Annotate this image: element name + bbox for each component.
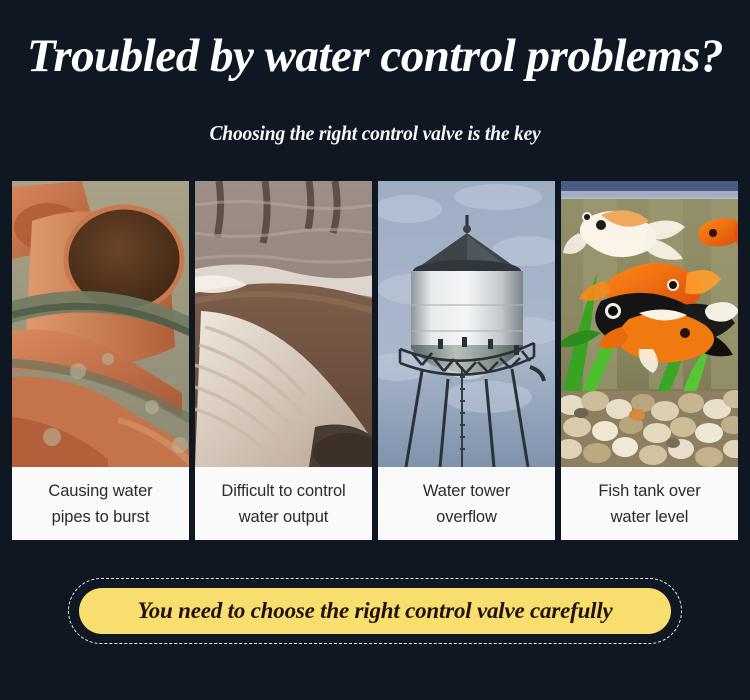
caption-line-2: water output: [239, 504, 329, 530]
caption-line-1: Causing water: [48, 478, 152, 504]
card-caption: Causing water pipes to burst: [12, 467, 189, 540]
promo-banner: Troubled by water control problems? Choo…: [0, 0, 750, 700]
caption-line-1: Difficult to control: [221, 478, 345, 504]
problem-cards-strip: Causing water pipes to burst: [12, 181, 738, 540]
cta-pill-button[interactable]: You need to choose the right control val…: [79, 588, 671, 634]
page-subtitle: Choosing the right control valve is the …: [26, 118, 724, 148]
card-caption: Difficult to control water output: [195, 467, 372, 540]
goldfish-aquarium-photo: [561, 181, 738, 467]
problem-card: Fish tank over water level: [561, 181, 738, 540]
problem-card: Difficult to control water output: [195, 181, 372, 540]
caption-line-1: Water tower: [423, 478, 510, 504]
card-caption: Water tower overflow: [378, 467, 555, 540]
caption-line-2: pipes to burst: [52, 504, 150, 530]
caption-line-1: Fish tank over: [598, 478, 700, 504]
page-title: Troubled by water control problems?: [0, 26, 750, 86]
water-tower-photo: [378, 181, 555, 467]
overflowing-muddy-water-photo: [195, 181, 372, 467]
caption-line-2: overflow: [436, 504, 497, 530]
card-caption: Fish tank over water level: [561, 467, 738, 540]
broken-clay-pipes-photo: [12, 181, 189, 467]
cta-pill-label: You need to choose the right control val…: [137, 598, 612, 624]
caption-line-2: water level: [611, 504, 689, 530]
problem-card: Water tower overflow: [378, 181, 555, 540]
call-to-action: You need to choose the right control val…: [68, 578, 682, 644]
problem-card: Causing water pipes to burst: [12, 181, 189, 540]
